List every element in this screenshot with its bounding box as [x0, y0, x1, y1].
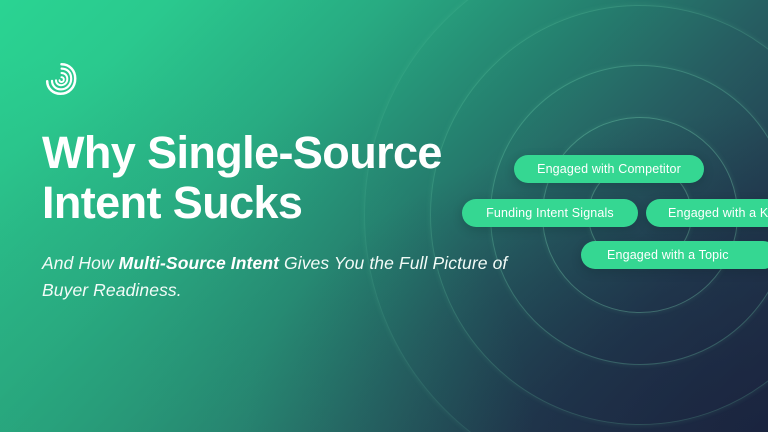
pill-label: Engaged with a Topic — [607, 248, 729, 262]
pill-engaged-with-competitor[interactable]: Engaged with Competitor — [514, 155, 704, 183]
headline-block: Why Single-Source Intent Sucks And How M… — [42, 128, 512, 304]
page-title: Why Single-Source Intent Sucks — [42, 128, 512, 228]
pill-engaged-with-a-topic[interactable]: Engaged with a Topic — [581, 241, 768, 269]
pill-engaged-with-a-keyword[interactable]: Engaged with a Ke — [646, 199, 768, 227]
pill-label: Funding Intent Signals — [486, 206, 614, 220]
pill-label: Engaged with Competitor — [537, 162, 681, 176]
subtitle-emphasis: Multi-Source Intent — [119, 253, 279, 273]
page-subtitle: And How Multi-Source Intent Gives You th… — [42, 250, 512, 304]
spiral-logo-icon — [42, 61, 78, 97]
pill-funding-intent-signals[interactable]: Funding Intent Signals — [462, 199, 638, 227]
subtitle-prefix: And How — [42, 253, 119, 273]
slide-canvas: Why Single-Source Intent Sucks And How M… — [0, 0, 768, 432]
pill-label: Engaged with a Ke — [668, 206, 768, 220]
